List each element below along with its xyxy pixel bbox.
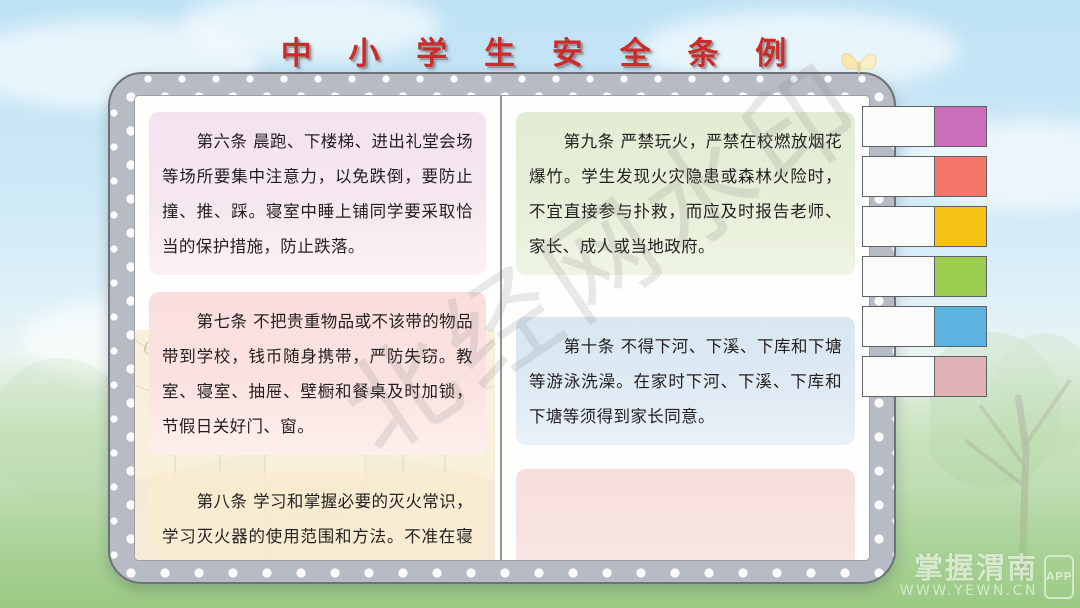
left-page: Coffee 第六条 晨跑、下楼梯、进出礼堂会场等场所要集中注意力，以免跌倒，要…	[135, 96, 502, 560]
app-phone-icon: APP	[1044, 555, 1074, 599]
tab-label-area	[862, 156, 934, 197]
page-title: 中 小 学 生 安 全 条 例	[0, 28, 1080, 73]
bookmark-tab-6[interactable]	[862, 356, 987, 397]
blank-block-text	[529, 489, 564, 508]
tab-color-swatch	[934, 156, 987, 197]
text-block-article-9: 第九条 严禁玩火，严禁在校燃放烟花爆竹。学生发现火灾隐患或森林火险时，不宜直接参…	[516, 112, 855, 275]
tab-label-area	[862, 106, 934, 147]
tab-color-swatch	[934, 256, 987, 297]
tab-color-swatch	[934, 356, 987, 397]
bookmark-tab-2[interactable]	[862, 156, 987, 197]
tab-color-swatch	[934, 306, 987, 347]
tab-label-area	[862, 206, 934, 247]
text-block-article-6: 第六条 晨跑、下楼梯、进出礼堂会场等场所要集中注意力，以免跌倒，要防止撞、推、踩…	[149, 112, 486, 275]
article-7-text: 第七条 不把贵重物品或不该带的物品带到学校，钱币随身携带，严防失窃。教室、寝室、…	[162, 312, 473, 436]
text-block-article-10: 第十条 不得下河、下溪、下库和下塘等游泳洗澡。在家时下河、下溪、下库和下塘等须得…	[516, 317, 855, 445]
tab-label-area	[862, 356, 934, 397]
text-block-article-7: 第七条 不把贵重物品或不该带的物品带到学校，钱币随身携带，严防失窃。教室、寝室、…	[149, 292, 486, 455]
article-6-text: 第六条 晨跑、下楼梯、进出礼堂会场等场所要集中注意力，以免跌倒，要防止撞、推、踩…	[162, 132, 473, 256]
tab-label-area	[862, 256, 934, 297]
text-block-blank	[516, 469, 855, 560]
article-9-text: 第九条 严禁玩火，严禁在校燃放烟花爆竹。学生发现火灾隐患或森林火险时，不宜直接参…	[529, 132, 842, 256]
tab-label-area	[862, 306, 934, 347]
text-block-article-8: 第八条 学习和掌握必要的灭火常识，学习灭火器的使用范围和方法。不准在寝室点蜡烛、…	[149, 472, 486, 560]
site-url: WWW.YEWN.CN	[900, 583, 1038, 600]
notebook-pages: Coffee 第六条 晨跑、下楼梯、进出礼堂会场等场所要集中注意力，以免跌倒，要…	[134, 95, 870, 561]
article-8-text: 第八条 学习和掌握必要的灭火常识，学习灭火器的使用范围和方法。不准在寝室点蜡烛、…	[162, 492, 473, 560]
bookmark-tab-1[interactable]	[862, 106, 987, 147]
article-10-text: 第十条 不得下河、下溪、下库和下塘等游泳洗澡。在家时下河、下溪、下库和下塘等须得…	[529, 337, 842, 426]
bookmark-tab-5[interactable]	[862, 306, 987, 347]
right-page: 第九条 严禁玩火，严禁在校燃放烟花爆竹。学生发现火灾隐患或森林火险时，不宜直接参…	[502, 96, 869, 560]
site-watermark-logo: 掌握渭南 WWW.YEWN.CN APP	[900, 553, 1074, 600]
tab-color-swatch	[934, 106, 987, 147]
site-name-cn: 掌握渭南	[900, 553, 1038, 583]
bookmark-tab-3[interactable]	[862, 206, 987, 247]
bookmark-tabs	[862, 106, 987, 406]
bookmark-tab-4[interactable]	[862, 256, 987, 297]
notebook: Coffee 第六条 晨跑、下楼梯、进出礼堂会场等场所要集中注意力，以免跌倒，要…	[108, 72, 896, 584]
tab-color-swatch	[934, 206, 987, 247]
slide-canvas: 中 小 学 生 安 全 条 例	[0, 0, 1080, 608]
